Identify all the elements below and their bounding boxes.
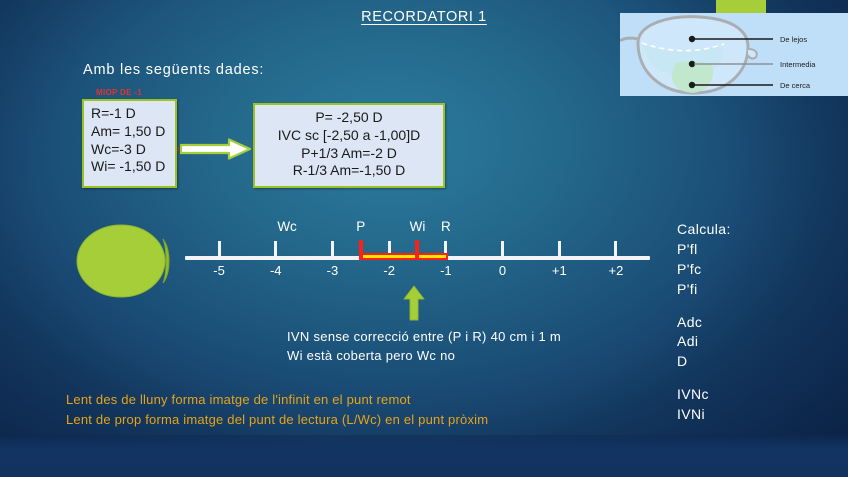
given-data-line-3: Wc=-3 D xyxy=(91,141,168,159)
number-line: -5-4-3-2-10+1+2 WcPWiR xyxy=(185,218,650,288)
lens-label-intermediate: Intermedia xyxy=(780,60,815,69)
eye-icon xyxy=(75,222,175,300)
axis-tick xyxy=(501,241,504,257)
intro-text: Amb les següents dades: xyxy=(83,62,264,78)
interval-stem xyxy=(415,240,419,260)
axis-tick xyxy=(218,241,221,257)
derived-data-line-2: IVC sc [-2,50 a -1,00]D xyxy=(262,127,436,145)
task-pfc: P'fc xyxy=(677,260,731,280)
given-data-box: R=-1 D Am= 1,50 D Wc=-3 D Wi= -1,50 D xyxy=(82,99,177,188)
ivn-interval-marker xyxy=(359,240,448,260)
axis-tick-label: -4 xyxy=(270,263,282,278)
given-data-line-1: R=-1 D xyxy=(91,105,168,123)
axis-tick-label: -3 xyxy=(327,263,339,278)
axis-tick xyxy=(558,241,561,257)
spacer-1 xyxy=(677,300,731,313)
progressive-lens-image: De lejos Intermedia De cerca xyxy=(620,13,848,96)
interval-bar-outer xyxy=(359,253,448,260)
yellow-note-1: Lent des de lluny forma imatge de l'infi… xyxy=(66,390,488,410)
spacer-2 xyxy=(677,372,731,385)
right-task-column: Calcula: P'fl P'fc P'fi Adc Adi D IVNc I… xyxy=(677,220,731,425)
task-ivnc: IVNc xyxy=(677,385,731,405)
axis-tick xyxy=(274,241,277,257)
annotation-miop: MIOP DE -1 xyxy=(96,88,142,97)
lens-label-far: De lejos xyxy=(780,35,807,44)
axis-tick xyxy=(614,241,617,257)
given-data-line-2: Am= 1,50 D xyxy=(91,123,168,141)
point-label-wi: Wi xyxy=(410,219,426,234)
derived-data-line-4: R-1/3 Am=-1,50 D xyxy=(262,162,436,180)
task-adi: Adi xyxy=(677,332,731,352)
task-d: D xyxy=(677,352,731,372)
yellow-note-2: Lent de prop forma imatge del punt de le… xyxy=(66,410,488,430)
green-accent-bar xyxy=(716,0,766,14)
axis-tick-label: -5 xyxy=(213,263,225,278)
derived-data-line-3: P+1/3 Am=-2 D xyxy=(262,145,436,163)
lens-diagram-svg xyxy=(620,13,848,96)
task-ivni: IVNi xyxy=(677,405,731,425)
under-line-notes: IVN sense correcció entre (P i R) 40 cm … xyxy=(287,328,561,366)
point-label-p: P xyxy=(356,219,365,234)
bottom-band xyxy=(0,435,848,477)
given-data-line-4: Wi= -1,50 D xyxy=(91,158,168,176)
task-pfi: P'fi xyxy=(677,280,731,300)
slide-canvas: RECORDATORI 1 Amb les següents dades: MI… xyxy=(0,0,848,477)
axis-tick xyxy=(331,241,334,257)
task-adc: Adc xyxy=(677,313,731,333)
interval-bar-inner xyxy=(361,255,446,258)
axis-tick-label: 0 xyxy=(499,263,506,278)
derived-data-box: P= -2,50 D IVC sc [-2,50 a -1,00]D P+1/3… xyxy=(253,103,445,188)
point-label-r: R xyxy=(441,219,451,234)
point-label-wc: Wc xyxy=(277,219,297,234)
axis-tick-label: +1 xyxy=(552,263,567,278)
under-line-note-1: IVN sense correcció entre (P i R) 40 cm … xyxy=(287,328,561,347)
task-pfl: P'fl xyxy=(677,240,731,260)
axis-tick-label: +2 xyxy=(609,263,624,278)
right-arrow-icon xyxy=(180,138,252,160)
calcula-heading: Calcula: xyxy=(677,220,731,240)
up-arrow-icon xyxy=(403,285,425,321)
axis-tick-label: -2 xyxy=(383,263,395,278)
yellow-notes: Lent des de lluny forma imatge de l'infi… xyxy=(66,390,488,429)
lens-label-near: De cerca xyxy=(780,81,810,90)
under-line-note-2: Wi està coberta pero Wc no xyxy=(287,347,561,366)
interval-stem xyxy=(359,240,363,260)
axis-tick-label: -1 xyxy=(440,263,452,278)
derived-data-line-1: P= -2,50 D xyxy=(262,109,436,127)
